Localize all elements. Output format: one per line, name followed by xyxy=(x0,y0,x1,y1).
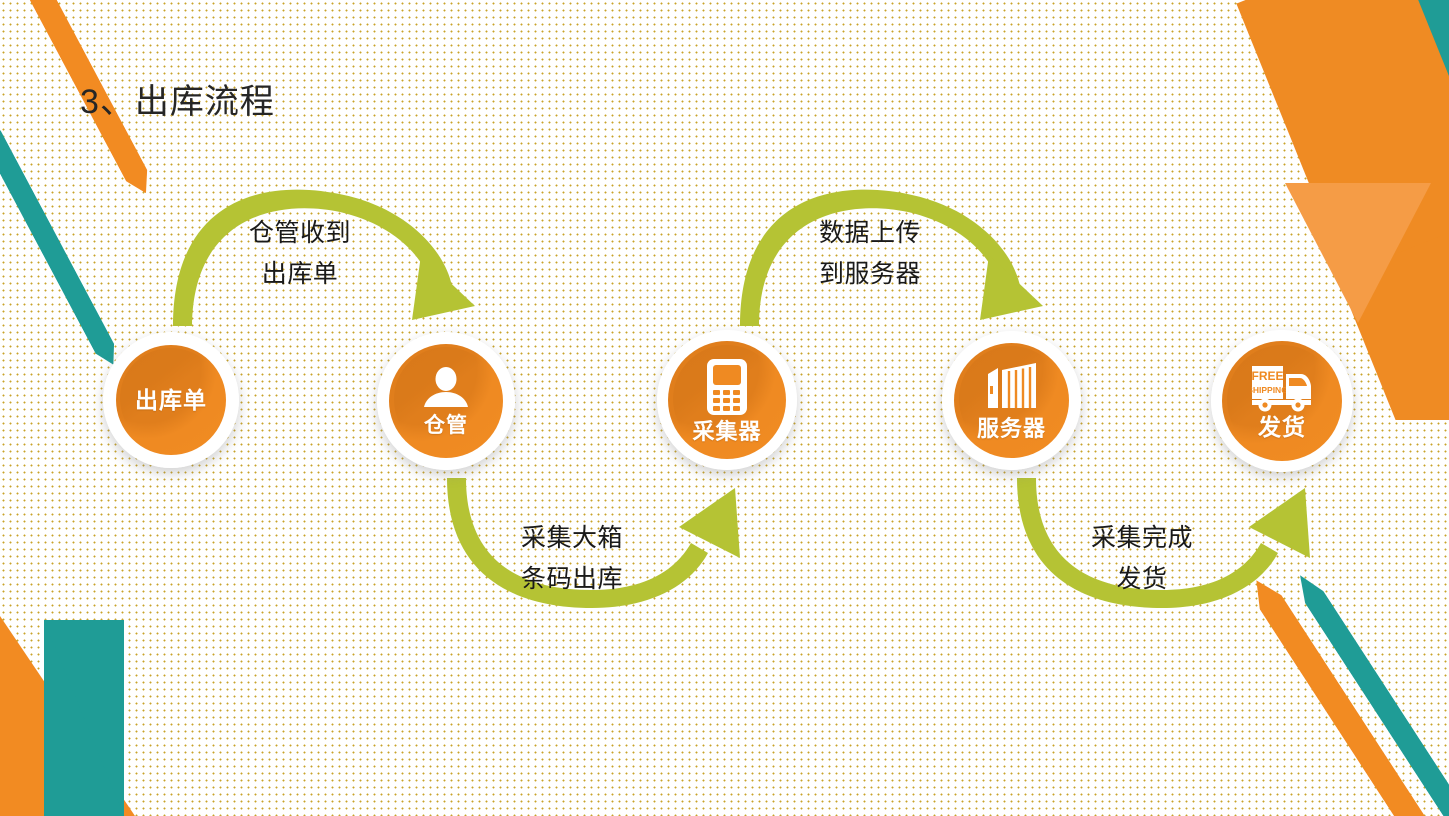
node-disc: 出库单 xyxy=(116,345,226,455)
node-disc: FREE SHIPPING 发货 xyxy=(1222,341,1342,461)
arrow-1-caption: 仓管收到 出库单 xyxy=(215,213,385,294)
arrow-3-caption: 数据上传 到服务器 xyxy=(785,213,955,294)
free-shipping-truck-icon: FREE SHIPPING xyxy=(1251,364,1313,412)
page-title: 3、出库流程 xyxy=(80,74,275,123)
node-label: 发货 xyxy=(1258,416,1306,439)
arrow-4-caption: 采集完成 发货 xyxy=(1048,518,1236,599)
node-label: 出库单 xyxy=(135,389,207,412)
node-disc: 服务器 xyxy=(954,343,1069,458)
flow-node-server[interactable]: 服务器 xyxy=(942,331,1081,470)
server-rack-icon xyxy=(984,362,1040,412)
mobile-scanner-icon xyxy=(706,358,748,416)
flow-node-outbound-order[interactable]: 出库单 xyxy=(103,332,239,468)
node-label: 仓管 xyxy=(424,415,468,436)
flow-node-shipment[interactable]: FREE SHIPPING 发货 xyxy=(1211,330,1353,472)
arrow-2-caption: 采集大箱 条码出库 xyxy=(478,518,666,599)
person-icon xyxy=(422,367,470,409)
flow-node-warehouse-keeper[interactable]: 仓管 xyxy=(377,332,515,470)
flow-node-data-collector[interactable]: 采集器 xyxy=(657,330,797,470)
truck-icon-text-free: FREE xyxy=(1251,369,1283,383)
node-disc: 仓管 xyxy=(389,344,503,458)
truck-icon-text-shipping: SHIPPING xyxy=(1251,385,1288,395)
node-label: 服务器 xyxy=(977,418,1046,440)
slide-canvas: 3、出库流程 出库单 xyxy=(0,0,1449,816)
node-label: 采集器 xyxy=(692,421,761,443)
node-disc: 采集器 xyxy=(668,341,786,459)
